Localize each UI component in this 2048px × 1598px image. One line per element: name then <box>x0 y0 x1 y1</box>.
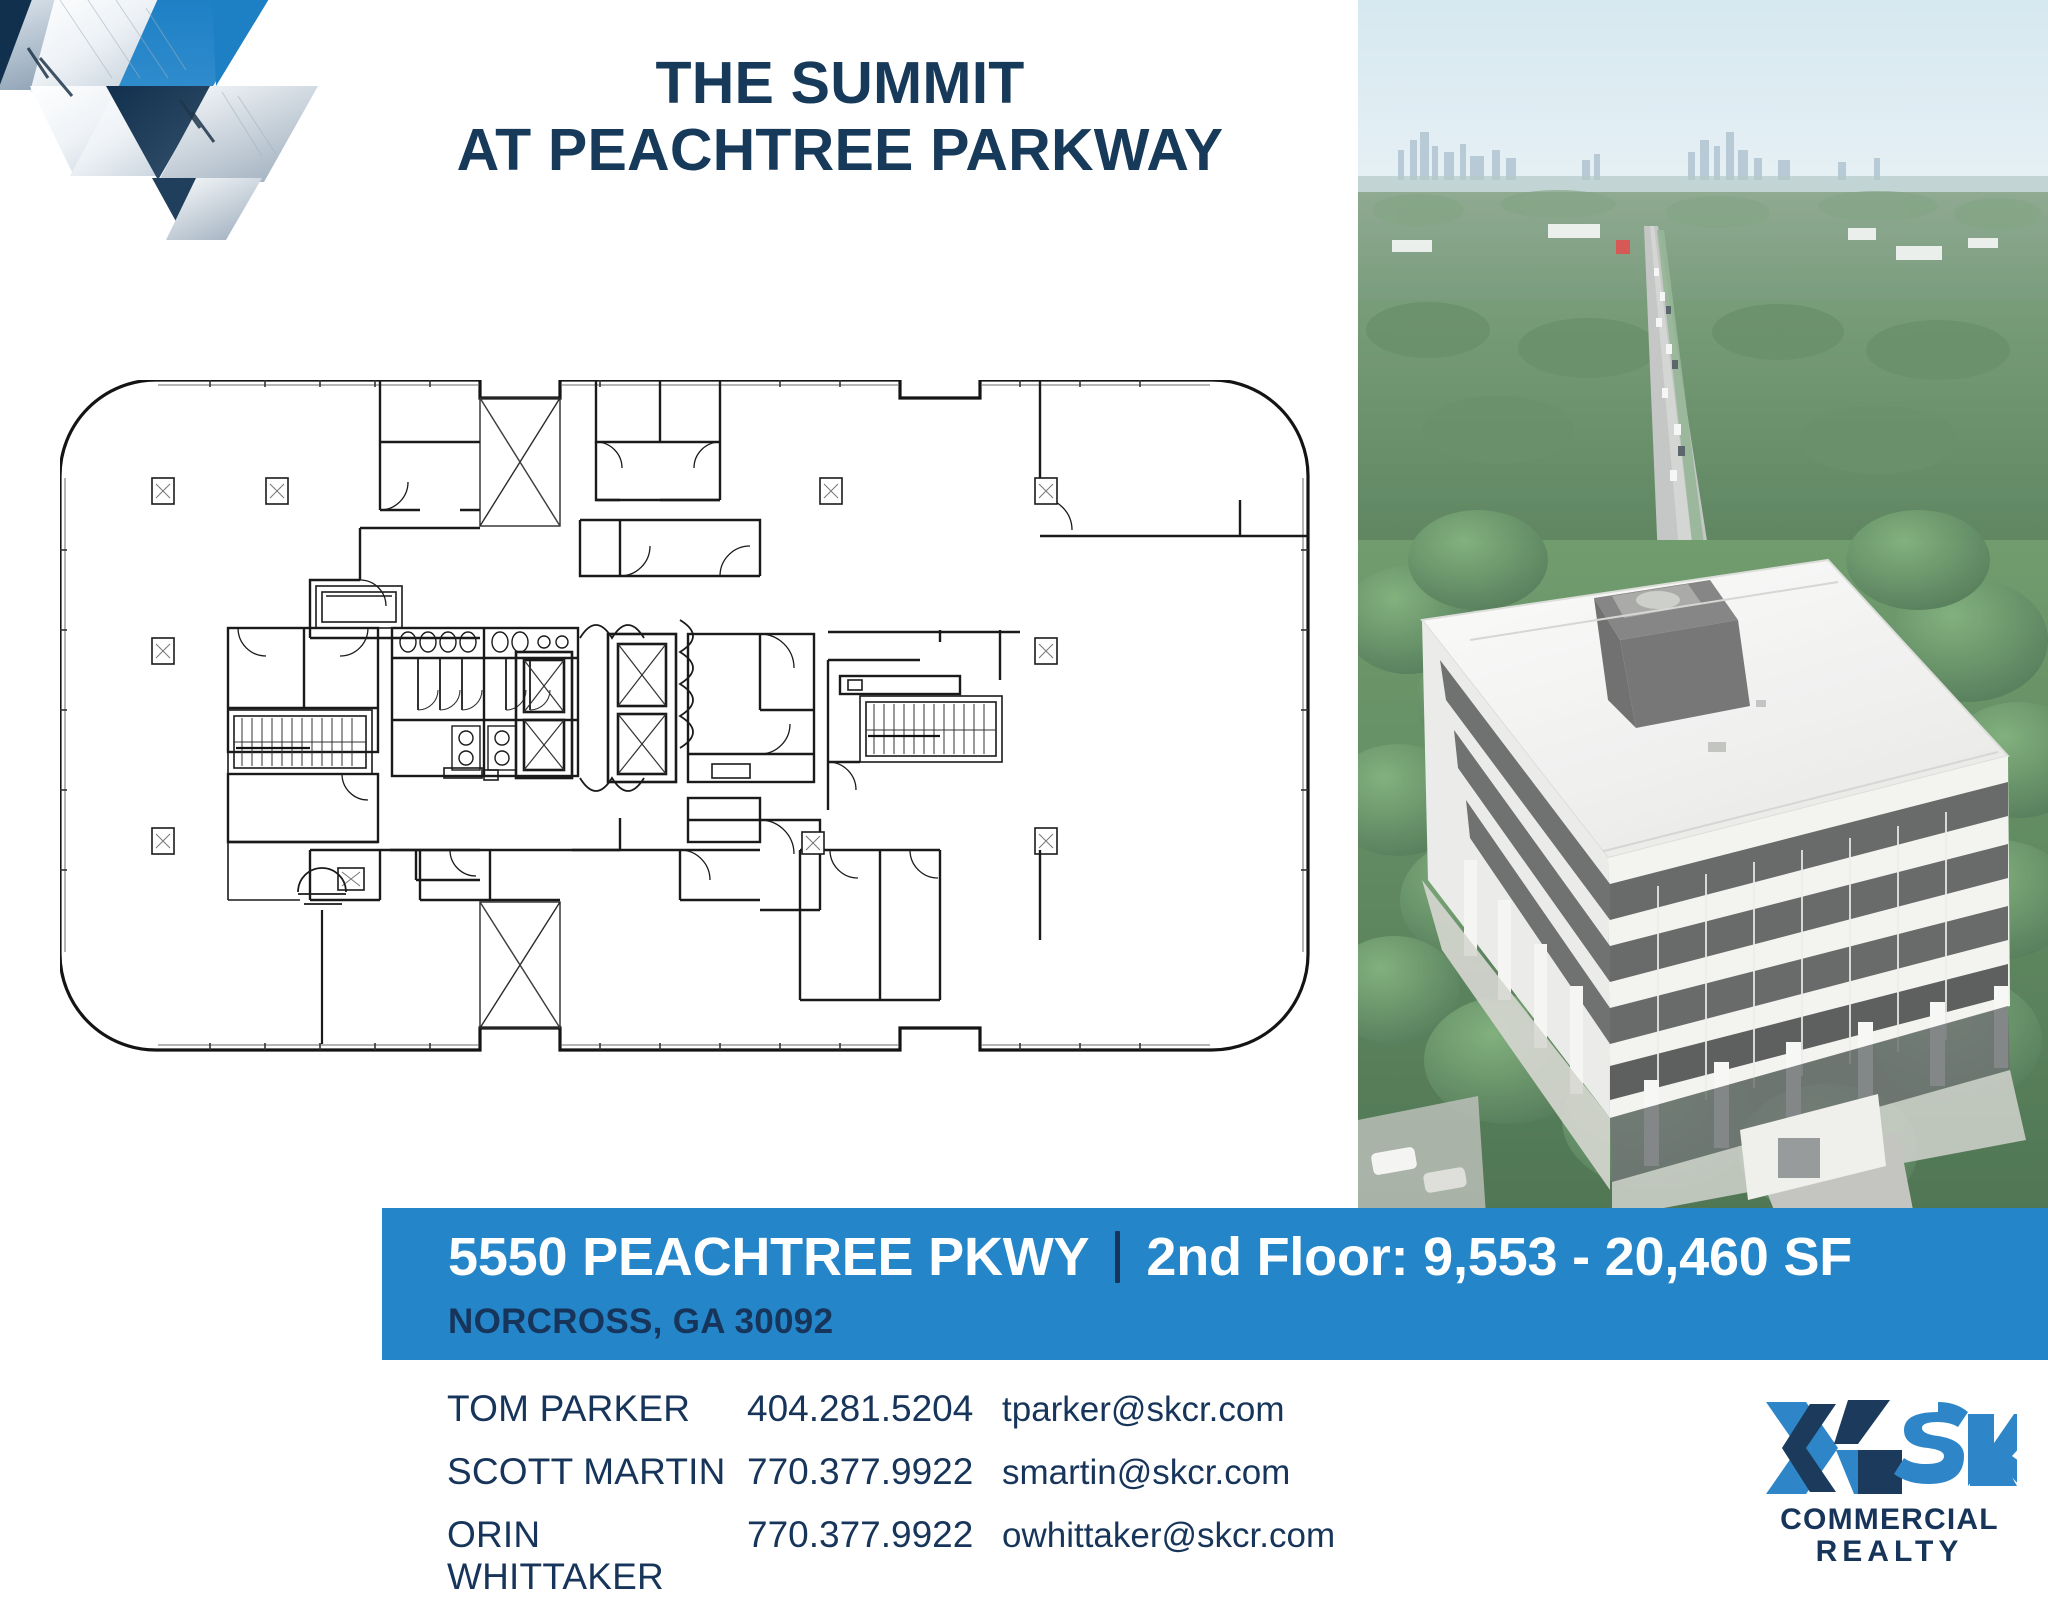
property-address: 5550 PEACHTREE PKWY <box>448 1226 1089 1288</box>
contact-email[interactable]: owhittaker@skcr.com <box>1002 1516 1335 1556</box>
title-line-2: AT PEACHTREE PARKWAY <box>380 117 1300 184</box>
sk-commercial-realty-logo: COMMERCIAL REALTY <box>1762 1394 2017 1569</box>
flyer-page: THE SUMMIT AT PEACHTREE PARKWAY <box>0 0 2048 1583</box>
contact-row: SCOTT MARTIN 770.377.9922 smartin@skcr.c… <box>447 1451 1497 1514</box>
title-line-1: THE SUMMIT <box>380 50 1300 117</box>
contact-phone[interactable]: 770.377.9922 <box>747 1451 1002 1493</box>
banner-primary-line: 5550 PEACHTREE PKWY 2nd Floor: 9,553 - 2… <box>448 1226 1852 1288</box>
sk-chevron-mark-icon <box>1762 1394 2017 1502</box>
contact-email[interactable]: tparker@skcr.com <box>1002 1390 1285 1430</box>
contact-email[interactable]: smartin@skcr.com <box>1002 1453 1290 1493</box>
page-title: THE SUMMIT AT PEACHTREE PARKWAY <box>380 50 1300 185</box>
city-state-zip: NORCROSS, GA 30092 <box>448 1302 833 1342</box>
banner-divider <box>1115 1231 1120 1283</box>
logo-line-realty: REALTY <box>1762 1536 2017 1568</box>
address-banner: 5550 PEACHTREE PKWY 2nd Floor: 9,553 - 2… <box>382 1208 2048 1360</box>
availability-text: 2nd Floor: 9,553 - 20,460 SF <box>1146 1226 1852 1288</box>
contact-list: TOM PARKER 404.281.5204 tparker@skcr.com… <box>447 1388 1497 1577</box>
contact-row: TOM PARKER 404.281.5204 tparker@skcr.com <box>447 1388 1497 1451</box>
contact-row: ORIN WHITTAKER 770.377.9922 owhittaker@s… <box>447 1514 1497 1577</box>
second-floor-plan <box>60 380 1350 1080</box>
contact-name: ORIN WHITTAKER <box>447 1514 747 1598</box>
contact-name: TOM PARKER <box>447 1388 747 1430</box>
contact-phone[interactable]: 404.281.5204 <box>747 1388 1002 1430</box>
aerial-photograph <box>1358 0 2048 1215</box>
chevron-glass-building-icon <box>0 0 372 258</box>
logo-line-commercial: COMMERCIAL <box>1762 1504 2017 1536</box>
contact-name: SCOTT MARTIN <box>447 1451 747 1493</box>
contact-phone[interactable]: 770.377.9922 <box>747 1514 1002 1556</box>
